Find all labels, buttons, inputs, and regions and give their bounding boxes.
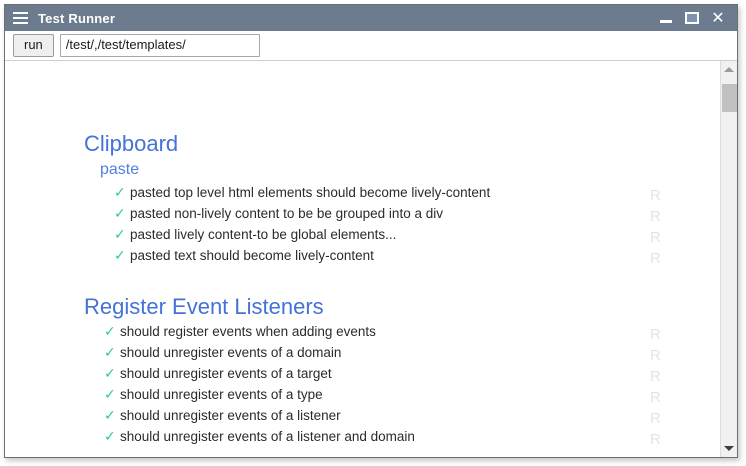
hamburger-line — [13, 22, 28, 24]
triangle-up-icon — [724, 67, 734, 72]
test-row[interactable]: ✓should unregister events of a listener — [104, 408, 665, 429]
test-row[interactable]: ✓should unregister events of a target — [104, 366, 665, 387]
suite-title[interactable]: Clipboard — [84, 131, 178, 157]
rerun-test-button[interactable]: R — [650, 366, 661, 387]
close-icon: ✕ — [711, 10, 724, 26]
minimize-icon — [660, 20, 672, 23]
test-pass-check-icon: ✓ — [104, 366, 120, 382]
test-results-pane: Clipboardpaste✓pasted top level html ele… — [5, 61, 720, 457]
suite-subtitle[interactable]: paste — [100, 161, 139, 179]
rerun-test-button[interactable]: R — [650, 248, 661, 269]
test-name: should unregister events of a listener — [120, 408, 341, 423]
test-name: should unregister events of a domain — [120, 345, 341, 360]
run-button[interactable]: run — [13, 34, 54, 57]
test-pass-check-icon: ✓ — [104, 408, 120, 424]
test-pass-check-icon: ✓ — [104, 345, 120, 361]
rerun-test-button[interactable]: R — [650, 345, 661, 366]
test-name: pasted lively content-to be global eleme… — [130, 227, 396, 242]
scroll-up-arrow-icon[interactable] — [721, 61, 738, 78]
test-row[interactable]: ✓pasted text should become lively-conten… — [114, 248, 665, 269]
rerun-test-button[interactable]: R — [650, 429, 661, 450]
test-row[interactable]: ✓pasted lively content-to be global elem… — [114, 227, 665, 248]
scrollbar-track[interactable] — [721, 78, 738, 440]
maximize-icon — [685, 12, 699, 24]
test-pass-check-icon: ✓ — [104, 429, 120, 445]
rerun-test-button[interactable]: R — [650, 227, 661, 248]
test-name: pasted non-lively content to be be group… — [130, 206, 443, 221]
hamburger-line — [13, 12, 28, 14]
test-name: should unregister events of a target — [120, 366, 332, 381]
test-pass-check-icon: ✓ — [114, 227, 130, 243]
rerun-test-button[interactable]: R — [650, 206, 661, 227]
rerun-test-button[interactable]: R — [650, 408, 661, 429]
test-name: pasted top level html elements should be… — [130, 185, 490, 200]
toolbar: run — [5, 31, 737, 61]
test-row[interactable]: ✓should unregister events of a listener … — [104, 429, 665, 450]
test-pass-check-icon: ✓ — [114, 206, 130, 222]
test-pass-check-icon: ✓ — [104, 387, 120, 403]
content-area: Clipboardpaste✓pasted top level html ele… — [5, 61, 737, 457]
vertical-scrollbar[interactable] — [720, 61, 737, 457]
rerun-test-button[interactable]: R — [650, 185, 661, 206]
test-row[interactable]: ✓pasted top level html elements should b… — [114, 185, 665, 206]
test-pass-check-icon: ✓ — [114, 185, 130, 201]
test-name: should unregister events of a type — [120, 387, 323, 402]
test-pass-check-icon: ✓ — [114, 248, 130, 264]
window-title: Test Runner — [38, 11, 653, 26]
test-row[interactable]: ✓should unregister events of a domain — [104, 345, 665, 366]
rerun-test-button[interactable]: R — [650, 387, 661, 408]
triangle-down-icon — [724, 446, 734, 451]
test-name: should register events when adding event… — [120, 324, 376, 339]
scrollbar-thumb[interactable] — [722, 84, 737, 112]
scroll-down-arrow-icon[interactable] — [721, 440, 738, 457]
test-name: should unregister events of a listener a… — [120, 429, 415, 444]
test-name: pasted text should become lively-content — [130, 248, 374, 263]
rerun-test-button[interactable]: R — [650, 324, 661, 345]
hamburger-menu-icon[interactable] — [13, 12, 28, 24]
title-bar: Test Runner ✕ — [5, 5, 737, 31]
minimize-button[interactable] — [653, 5, 679, 31]
test-pass-check-icon: ✓ — [104, 324, 120, 340]
close-button[interactable]: ✕ — [705, 5, 731, 31]
test-row[interactable]: ✓should register events when adding even… — [104, 324, 665, 345]
hamburger-line — [13, 17, 28, 19]
suite-title[interactable]: Register Event Listeners — [84, 294, 324, 320]
test-row[interactable]: ✓should unregister events of a type — [104, 387, 665, 408]
test-path-input[interactable] — [60, 34, 260, 57]
maximize-button[interactable] — [679, 5, 705, 31]
test-runner-window: Test Runner ✕ run Clipboardpaste✓pasted … — [4, 4, 738, 458]
test-row[interactable]: ✓pasted non-lively content to be be grou… — [114, 206, 665, 227]
